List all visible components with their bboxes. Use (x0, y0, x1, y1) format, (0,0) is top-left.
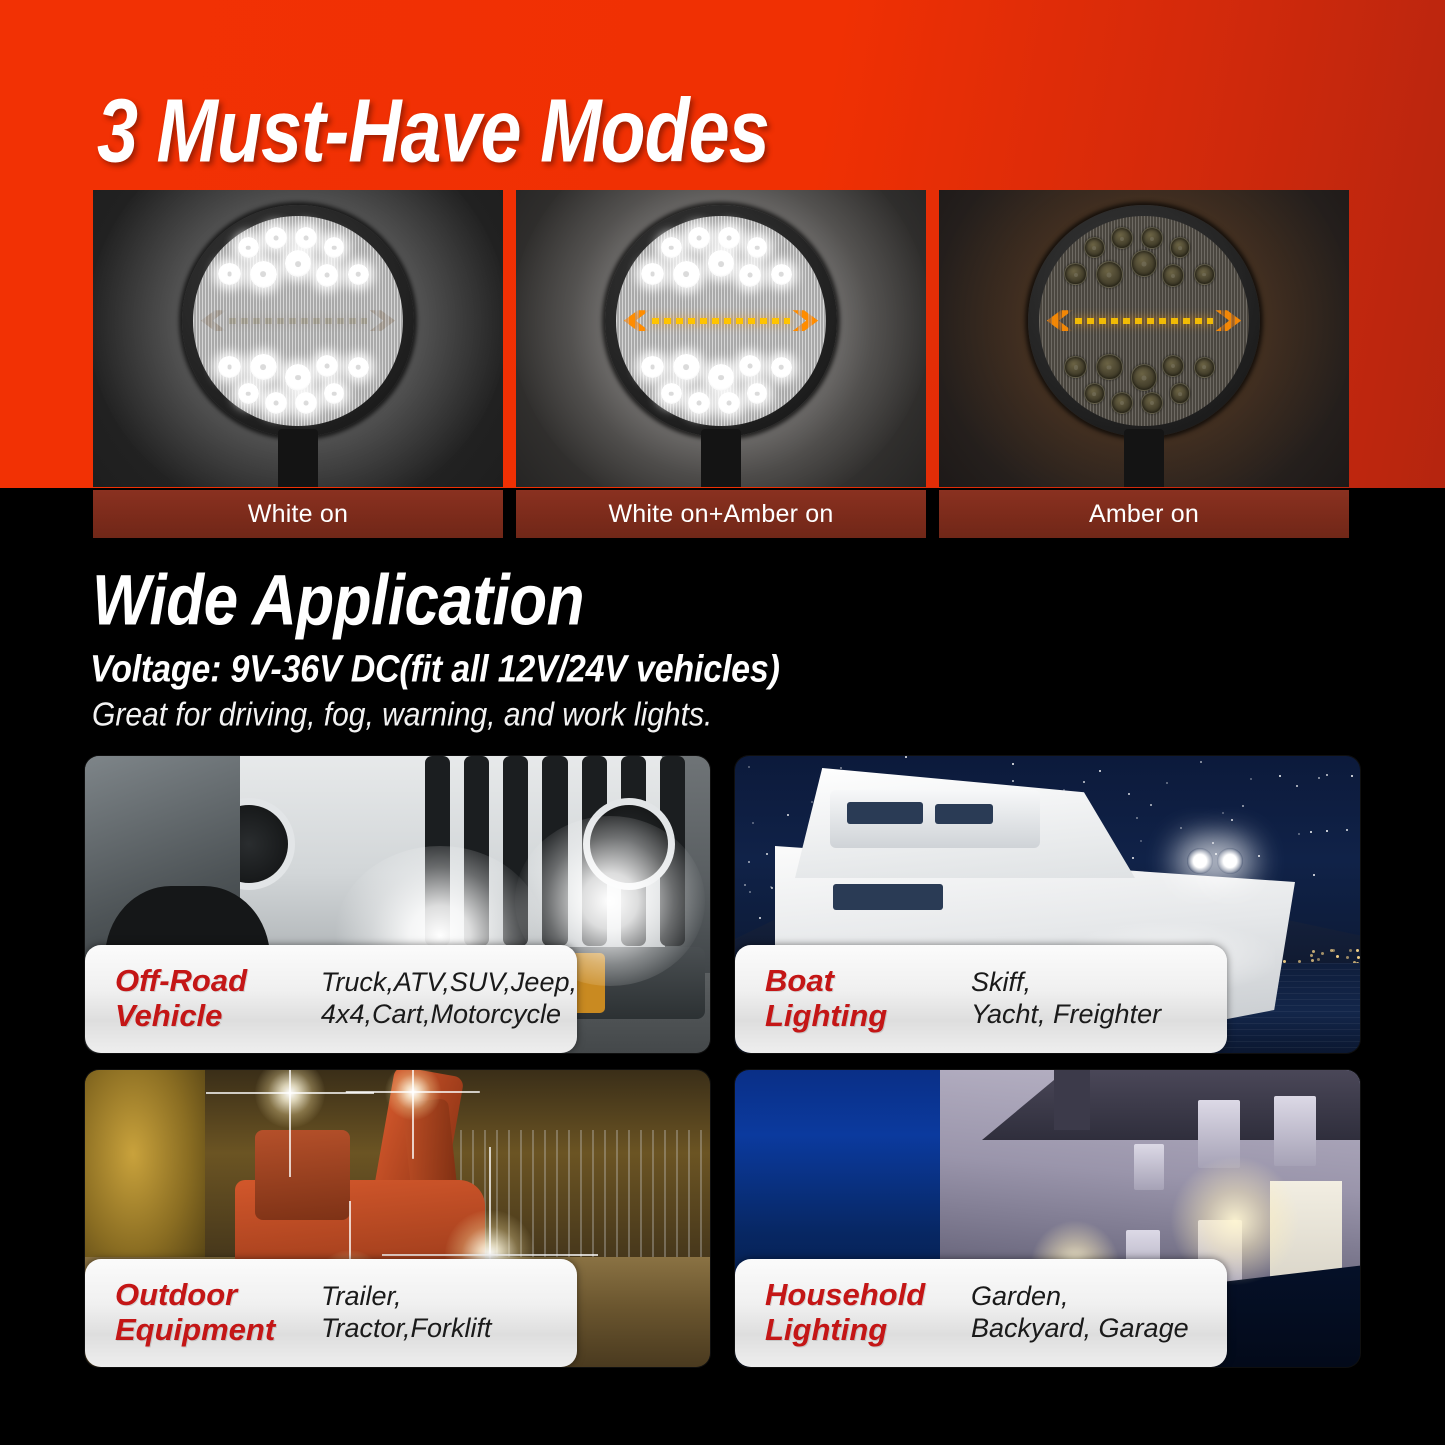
led (238, 383, 259, 404)
arrow-bar (229, 318, 368, 323)
card-description: Skiff, Yacht, Freighter (971, 967, 1161, 1031)
application-cards: Off-Road Vehicle Truck,ATV,SUV,Jeep, 4x4… (0, 756, 1445, 1396)
lamp-bracket (278, 429, 318, 487)
led (739, 264, 761, 286)
light-flare (255, 1070, 325, 1128)
mode-panel-white-amber-on (516, 190, 926, 487)
led (1170, 383, 1191, 404)
led (218, 356, 240, 378)
lamp-housing (1028, 205, 1260, 437)
tree (85, 1070, 205, 1280)
yacht-window (847, 802, 923, 824)
led (771, 264, 792, 285)
amber-arrow-strip (1042, 310, 1246, 331)
led (250, 261, 277, 288)
arrow-chevron-right (792, 310, 823, 331)
card-title: Off-Road Vehicle (115, 964, 307, 1033)
led (265, 227, 287, 249)
led (1194, 357, 1215, 378)
led (218, 263, 240, 285)
led (1096, 354, 1123, 381)
product-infographic: 3 Must-Have Modes (0, 0, 1445, 1445)
arrow-chevron-left (619, 310, 650, 331)
caption-plate: Off-Road Vehicle Truck,ATV,SUV,Jeep, 4x4… (85, 945, 577, 1053)
card-title: Outdoor Equipment (115, 1278, 307, 1347)
arrow-bar (652, 318, 791, 323)
mode-label-white-amber-on: White on+Amber on (516, 490, 926, 538)
arrow-chevron-left (196, 310, 227, 331)
arrow-chevron-right (369, 310, 400, 331)
led (295, 227, 317, 249)
voltage-spec: Voltage: 9V-36V DC(fit all 12V/24V vehic… (90, 648, 780, 692)
lamp-housing (605, 205, 837, 437)
led (747, 383, 768, 404)
led (1096, 261, 1123, 288)
card-off-road-vehicle: Off-Road Vehicle Truck,ATV,SUV,Jeep, 4x4… (85, 756, 710, 1053)
led (348, 357, 369, 378)
mode-label-white-on: White on (93, 490, 503, 538)
card-outdoor-equipment: Outdoor Equipment Trailer, Tractor,Forkl… (85, 1070, 710, 1367)
lamp-housing (182, 205, 414, 437)
led (661, 237, 682, 258)
card-boat-lighting: Boat Lighting Skiff, Yacht, Freighter (735, 756, 1360, 1053)
led (1141, 227, 1163, 249)
house-window (1274, 1096, 1316, 1166)
card-household-lighting: Household Lighting Garden, Backyard, Gar… (735, 1070, 1360, 1367)
led (348, 264, 369, 285)
amber-arrow-strip (196, 310, 400, 331)
led-lamp-white (182, 205, 414, 437)
card-description: Garden, Backyard, Garage (971, 1281, 1189, 1345)
yacht-window (935, 804, 993, 824)
application-subtitle: Great for driving, fog, warning, and wor… (92, 697, 712, 734)
led (1064, 356, 1086, 378)
section-title-wide-application: Wide Application (92, 560, 584, 642)
led (641, 356, 663, 378)
arrow-chevron-left (1042, 310, 1073, 331)
led (316, 264, 338, 286)
led (661, 383, 682, 404)
led (1194, 264, 1215, 285)
led (673, 261, 700, 288)
led (1064, 263, 1086, 285)
mode-panel-white-on (93, 190, 503, 487)
led (771, 357, 792, 378)
led-lamp-white-amber (605, 205, 837, 437)
led (688, 227, 710, 249)
led (1162, 264, 1184, 286)
caption-plate: Boat Lighting Skiff, Yacht, Freighter (735, 945, 1227, 1053)
led (324, 383, 345, 404)
mode-label-amber-on: Amber on (939, 490, 1349, 538)
mode-panel-amber-on (939, 190, 1349, 487)
arrow-bar (1075, 318, 1214, 323)
mode-labels: White on White on+Amber on Amber on (0, 490, 1445, 538)
led (641, 263, 663, 285)
excavator-cab (255, 1130, 350, 1220)
led (673, 354, 700, 381)
led (238, 237, 259, 258)
card-title: Household Lighting (765, 1278, 957, 1347)
led (1111, 227, 1133, 249)
led (1084, 237, 1105, 258)
lamp-bracket (1124, 429, 1164, 487)
boat-light-right (1217, 848, 1243, 874)
chimney (1054, 1070, 1090, 1130)
page-title: 3 Must-Have Modes (97, 80, 769, 183)
led (1084, 383, 1105, 404)
amber-arrow-strip (619, 310, 823, 331)
card-description: Trailer, Tractor,Forklift (321, 1281, 492, 1345)
card-description: Truck,ATV,SUV,Jeep, 4x4,Cart,Motorcycle (321, 967, 577, 1031)
arrow-chevron-right (1215, 310, 1246, 331)
caption-plate: Household Lighting Garden, Backyard, Gar… (735, 1259, 1227, 1367)
led (718, 227, 740, 249)
house-window (1134, 1144, 1164, 1190)
card-title: Boat Lighting (765, 964, 957, 1033)
boat-light-left (1187, 848, 1213, 874)
led-lamp-amber (1028, 205, 1260, 437)
yacht-window (833, 884, 943, 910)
caption-plate: Outdoor Equipment Trailer, Tractor,Forkl… (85, 1259, 577, 1367)
led (250, 354, 277, 381)
mode-panels (0, 190, 1445, 490)
lamp-bracket (701, 429, 741, 487)
